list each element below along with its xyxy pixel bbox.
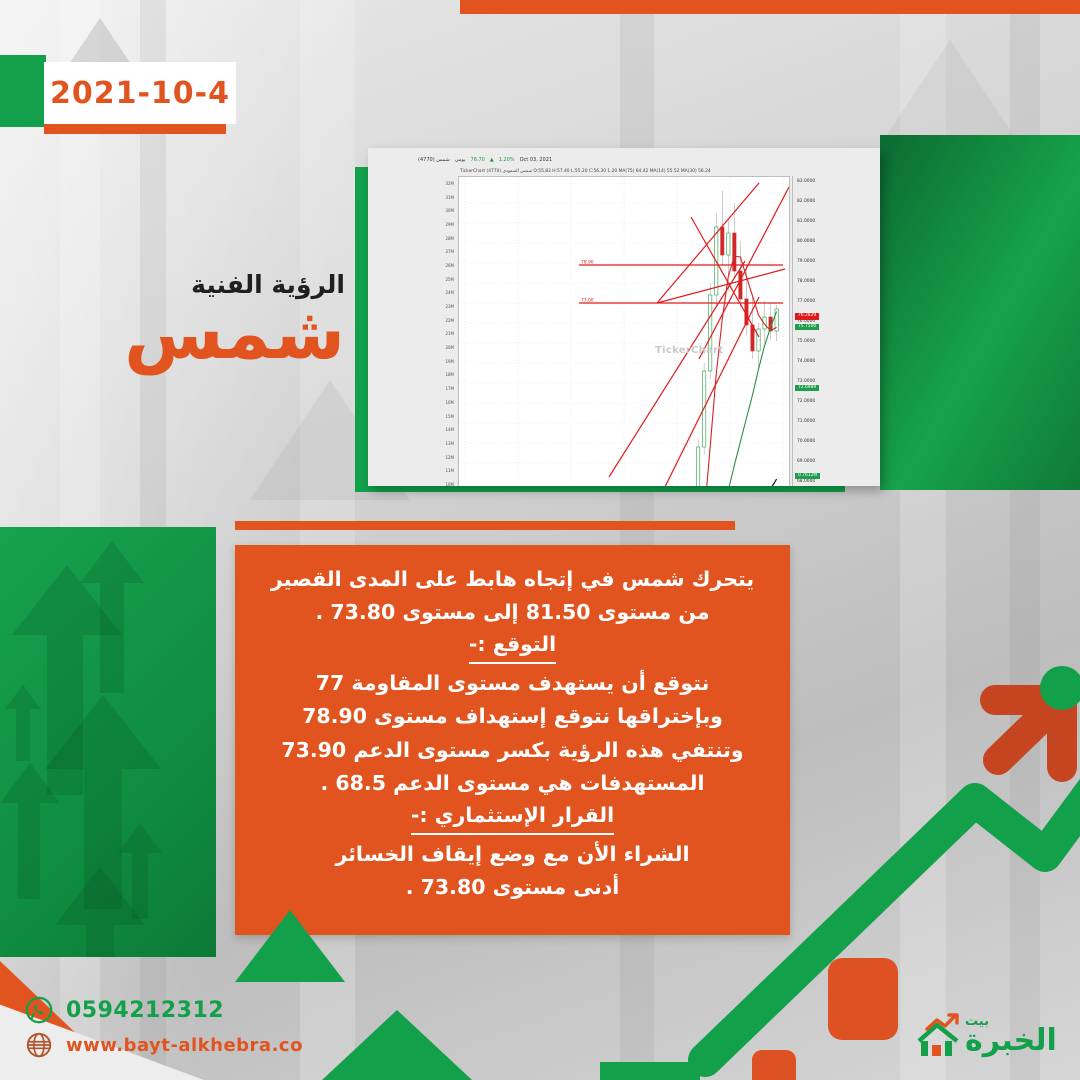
volume-axis-label: 23M — [445, 305, 454, 309]
bg-triangle — [880, 40, 1020, 145]
chart-header-row: شمس (4770) يومي 76.70 ▲ 1.20% Oct 03, 20… — [418, 154, 880, 165]
website-url: www.bayt-alkhebra.co — [66, 1035, 303, 1056]
chart-watermark: TickerChart — [655, 345, 724, 356]
contact-website[interactable]: www.bayt-alkhebra.co — [24, 1030, 303, 1060]
chart-change-percent: 1.20% — [499, 157, 515, 163]
price-badge: 72.6989 — [795, 385, 819, 391]
volume-axis-label: 32M — [445, 182, 454, 186]
volume-axis-label: 10M — [445, 483, 454, 486]
chart-timeframe: يومي — [455, 157, 466, 163]
chart-symbol: شمس (4770) — [418, 157, 450, 163]
globe-icon — [24, 1030, 54, 1060]
volume-axis-label: 31M — [445, 196, 454, 200]
analysis-line: من مستوى 81.50 إلى مستوى 73.80 . — [257, 596, 768, 629]
analysis-line: المستهدفات هي مستوى الدعم 68.5 . — [257, 767, 768, 800]
volume-axis-label: 22M — [445, 319, 454, 323]
decor-triangle — [235, 910, 345, 982]
volume-axis-label: 24M — [445, 291, 454, 295]
price-axis-label: 83.0000 — [797, 180, 815, 184]
price-axis-label: 79.0000 — [797, 260, 815, 264]
chart-change-arrow-icon: ▲ — [490, 157, 494, 163]
volume-axis-label: 27M — [445, 250, 454, 254]
top-accent-bar-right — [820, 0, 1080, 14]
analysis-line: الشراء الأن مع وضع إيقاف الخسائر — [257, 838, 768, 871]
price-axis-label: 69.0000 — [797, 460, 815, 464]
date-label: 2021-10-4 — [50, 76, 230, 111]
analysis-text-block: يتحرك شمس في إتجاه هابط على المدى القصير… — [235, 545, 790, 935]
shams-logo: الرؤية الفنية شمس — [60, 272, 345, 390]
date-badge: 2021-10-4 — [44, 62, 236, 124]
volume-axis-label: 16M — [445, 401, 454, 405]
price-axis-label: 70.0000 — [797, 440, 815, 444]
annotation-label: 78.90 — [581, 260, 594, 266]
volume-axis-label: 29M — [445, 223, 454, 227]
house-arrow-icon — [915, 1011, 961, 1059]
price-axis-label: 80.0000 — [797, 240, 815, 244]
price-badge: 75.7500 — [795, 324, 819, 330]
price-axis-label: 71.0000 — [797, 420, 815, 424]
top-accent-bar — [460, 0, 820, 14]
price-axis-label: 72.0000 — [797, 400, 815, 404]
analysis-line: نتوقع أن يستهدف مستوى المقاومة 77 — [257, 667, 768, 700]
date-underline — [44, 124, 226, 134]
bottom-left-green-panel — [0, 527, 216, 957]
volume-axis-label: 20M — [445, 346, 454, 350]
volume-axis-label: 25M — [445, 278, 454, 282]
decor-square — [600, 1062, 700, 1080]
stock-chart-card: شمس (4770) يومي 76.70 ▲ 1.20% Oct 03, 20… — [368, 148, 880, 486]
volume-axis-label: 21M — [445, 332, 454, 336]
bayt-alkhebra-logo: بيت الخبرة — [915, 1000, 1075, 1070]
decor-square — [349, 1062, 409, 1080]
top-left-green-block — [0, 55, 46, 127]
price-axis-label: 78.0000 — [797, 280, 815, 284]
volume-axis-label: 15M — [445, 415, 454, 419]
price-axis-label: 77.0000 — [797, 300, 815, 304]
logo-title: شمس — [124, 299, 345, 367]
decor-square — [752, 1050, 796, 1080]
price-axis-label: 74.0000 — [797, 360, 815, 364]
analysis-line: يتحرك شمس في إتجاه هابط على المدى القصير — [257, 563, 768, 596]
analysis-line: وتنتفي هذه الرؤية بكسر مستوى الدعم 73.90 — [257, 734, 768, 767]
whatsapp-icon — [24, 995, 54, 1025]
annotation-label: 77.00 — [581, 298, 594, 304]
price-axis-label: 73.0000 — [797, 380, 815, 384]
chart-series-svg: 78.9077.00 — [459, 177, 789, 486]
volume-axis-label: 13M — [445, 442, 454, 446]
volume-axis-label: 12M — [445, 456, 454, 460]
price-axis-label: 75.0000 — [797, 340, 815, 344]
volume-axis: 32M31M30M29M28M27M26M25M24M23M22M21M20M1… — [420, 176, 456, 486]
decor-square — [828, 958, 898, 1040]
chart-last-price: 76.70 — [471, 157, 485, 163]
price-axis-label: 81.0000 — [797, 220, 815, 224]
analysis-heading: القرار الإستثماري :- — [411, 800, 614, 835]
chart-date: Oct 03, 2021 — [520, 157, 553, 163]
volume-axis-label: 28M — [445, 237, 454, 241]
analysis-line: أدنى مستوى 73.80 . — [257, 871, 768, 904]
analysis-heading: التوقع :- — [469, 629, 556, 664]
volume-axis-label: 17M — [445, 387, 454, 391]
price-badge: 76.2829 — [795, 313, 819, 319]
price-axis: 83.000082.000081.000080.000079.000078.00… — [792, 176, 880, 486]
top-right-green-panel — [880, 135, 1080, 490]
phone-number: 0594212312 — [66, 998, 224, 1023]
poster-canvas: 2021-10-4 الرؤية الفنية شمس شمس (4770) ي… — [0, 0, 1080, 1080]
section-divider — [235, 521, 735, 530]
volume-axis-label: 26M — [445, 264, 454, 268]
volume-axis-label: 30M — [445, 209, 454, 213]
volume-axis-label: 14M — [445, 428, 454, 432]
volume-axis-label: 11M — [445, 469, 454, 473]
contact-phone[interactable]: 0594212312 — [24, 995, 224, 1025]
volume-axis-label: 19M — [445, 360, 454, 364]
volume-axis-label: 18M — [445, 373, 454, 377]
chart-study-line: TickerChart شمس السعودي (4770) O:55.83 H… — [460, 167, 880, 176]
brand-big-word: الخبرة — [965, 1027, 1057, 1054]
price-axis-label: 68.0000 — [797, 480, 815, 484]
analysis-line: وبإختراقها نتوقع إستهداف مستوى 78.90 — [257, 700, 768, 733]
price-axis-label: 82.0000 — [797, 200, 815, 204]
price-badge: 0.7612M — [795, 473, 820, 479]
chart-plot-area[interactable]: 78.9077.00 TickerChart بيت الخبرة — [458, 176, 790, 486]
